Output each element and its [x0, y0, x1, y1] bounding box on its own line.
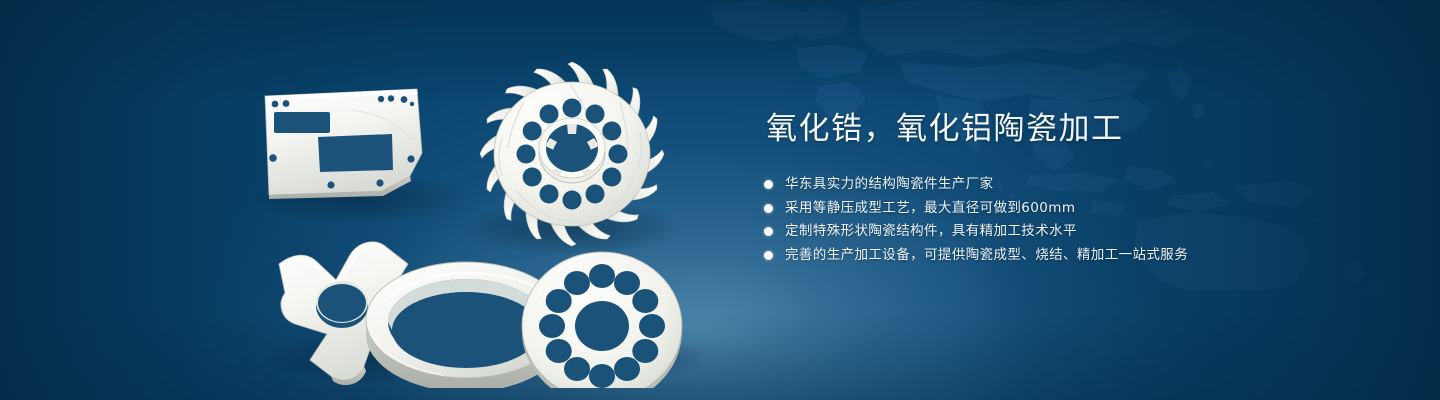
list-item-label: 华东具实力的结构陶瓷件生产厂家	[785, 173, 994, 197]
banner-copy: 氧化锆，氧化铝陶瓷加工 华东具实力的结构陶瓷件生产厂家 采用等静压成型工艺，最大…	[764, 108, 1364, 267]
promo-banner: 氧化锆，氧化铝陶瓷加工 华东具实力的结构陶瓷件生产厂家 采用等静压成型工艺，最大…	[0, 0, 1440, 400]
bullet-dot-icon	[764, 251, 773, 260]
list-item: 定制特殊形状陶瓷结构件，具有精加工技术水平	[764, 220, 1364, 244]
banner-headline: 氧化锆，氧化铝陶瓷加工	[766, 108, 1364, 150]
ceramic-plate-with-cutouts	[265, 89, 422, 199]
bullet-dot-icon	[764, 180, 773, 189]
list-item: 采用等静压成型工艺，最大直径可做到600mm	[764, 197, 1364, 221]
bullet-dot-icon	[764, 204, 773, 213]
list-item: 华东具实力的结构陶瓷件生产厂家	[764, 173, 1364, 197]
list-item-label: 采用等静压成型工艺，最大直径可做到600mm	[785, 197, 1075, 221]
list-item-label: 定制特殊形状陶瓷结构件，具有精加工技术水平	[785, 220, 1077, 244]
feature-list: 华东具实力的结构陶瓷件生产厂家 采用等静压成型工艺，最大直径可做到600mm 定…	[764, 173, 1364, 267]
ceramic-perforated-disc	[522, 252, 682, 388]
ceramic-products-image	[232, 58, 702, 388]
list-item-label: 完善的生产加工设备，可提供陶瓷成型、烧结、精加工一站式服务	[785, 244, 1188, 268]
bullet-dot-icon	[764, 227, 773, 236]
list-item: 完善的生产加工设备，可提供陶瓷成型、烧结、精加工一站式服务	[764, 244, 1364, 268]
